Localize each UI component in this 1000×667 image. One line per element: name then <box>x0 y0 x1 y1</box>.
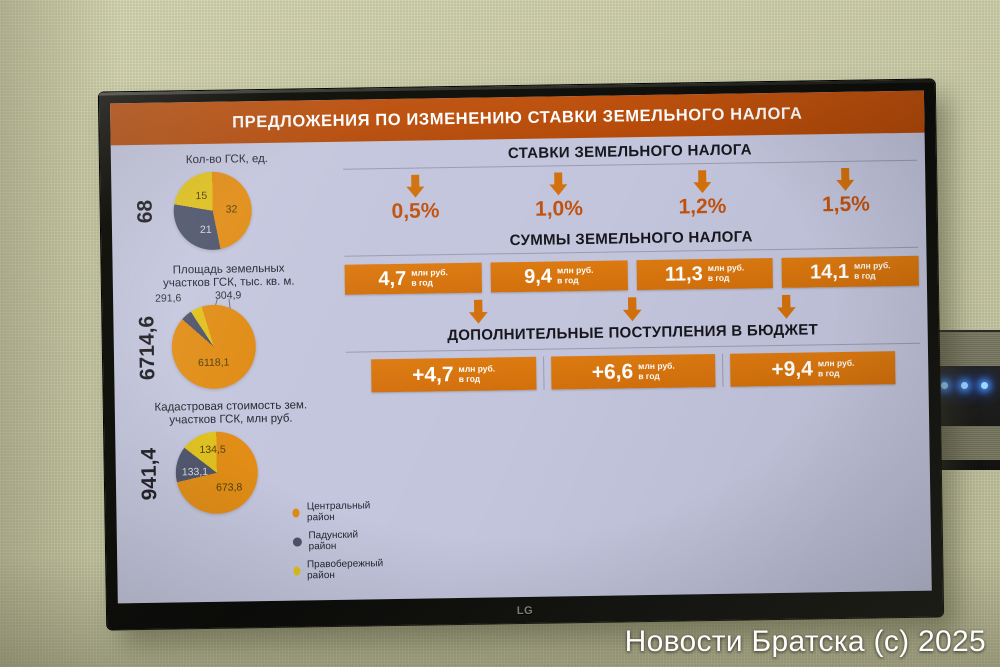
legend-dot-icon <box>292 508 300 517</box>
watermark: Новости Братска (с) 2025 <box>625 625 986 659</box>
chart-2-total: 6714,6 <box>135 315 160 380</box>
budget-box-2: +6,6 млн руб. в год <box>551 354 716 390</box>
arrow-down-icon <box>834 168 856 192</box>
budget-arrow-cell-1 <box>401 298 555 325</box>
chart-3-label-padun: 133,1 <box>182 466 208 478</box>
rate-cell-1: 0,5% <box>343 174 487 225</box>
budget-value: +4,7 <box>412 364 454 386</box>
lg-brand-logo: LG <box>517 605 533 617</box>
chart-gsk-area: Площадь земельных участков ГСК, тыс. кв.… <box>119 261 341 390</box>
budget-row: +4,7 млн руб. в год +6,6 млн руб. в год <box>346 351 920 393</box>
chart-1-label-pravo: 15 <box>195 189 207 201</box>
sums-row: 4,7 млн руб. в год 9,4 млн руб. в год 11… <box>345 256 919 295</box>
chart-3-label-pravo: 134,5 <box>199 443 225 455</box>
arrow-down-icon <box>620 297 644 322</box>
sum-value: 4,7 <box>378 269 406 289</box>
budget-unit: млн руб. в год <box>638 362 675 382</box>
legend-dot-icon <box>293 566 300 575</box>
budget-arrow-cell-3 <box>709 294 863 321</box>
rate-value: 1,2% <box>678 195 726 220</box>
budget-box-3: +9,4 млн руб. в год <box>730 351 895 387</box>
budget-unit-line2: в год <box>459 373 481 383</box>
chart-gsk-cadastral-value: Кадастровая стоимость зем. участков ГСК,… <box>121 399 343 516</box>
arrow-down-icon <box>466 299 490 324</box>
budget-cell-1: +4,7 млн руб. в год <box>364 357 543 393</box>
rate-value: 0,5% <box>391 199 439 224</box>
arrow-down-icon <box>547 172 569 196</box>
sum-unit: млн руб. в год <box>854 262 891 282</box>
chart-2-label-padun: 291,6 <box>155 292 181 304</box>
budget-value: +9,4 <box>771 358 813 380</box>
budget-unit: млн руб. в год <box>458 364 495 384</box>
chart-3-total: 941,4 <box>137 447 162 500</box>
chart-1-caption: Кол-во ГСК, ед. <box>117 152 337 169</box>
rate-cell-3: 1,2% <box>630 169 774 220</box>
sum-box-1: 4,7 млн руб. в год <box>345 263 482 295</box>
sum-unit-line2: в год <box>854 270 876 280</box>
chart-2-label-central: 6118,1 <box>198 356 230 368</box>
chart-1-pie <box>173 171 252 250</box>
arrow-down-icon <box>691 170 713 194</box>
wall-mounted-tv: LG ПРЕДЛОЖЕНИЯ ПО ИЗМЕНЕНИЮ СТАВКИ ЗЕМЕЛ… <box>99 79 943 629</box>
sum-box-4: 14,1 млн руб. в год <box>782 256 919 288</box>
rate-cell-4: 1,5% <box>774 167 918 218</box>
budget-unit: млн руб. в год <box>818 359 855 379</box>
sum-unit: млн руб. в год <box>411 269 448 289</box>
sum-unit-line2: в год <box>411 277 433 287</box>
arrow-down-icon <box>774 295 798 320</box>
chart-1-label-padun: 21 <box>200 223 212 235</box>
budget-arrow-cell-2 <box>555 296 709 323</box>
status-led <box>981 382 988 389</box>
charts-column: Кол-во ГСК, ед. 68 32 21 15 Площадь земе… <box>117 146 344 603</box>
budget-value: +6,6 <box>592 361 634 383</box>
sum-unit-line2: в год <box>557 275 579 285</box>
budget-cell-2: +6,6 млн руб. в год <box>544 354 723 390</box>
sum-unit-line2: в год <box>708 273 730 283</box>
slide-title: ПРЕДЛОЖЕНИЯ ПО ИЗМЕНЕНИЮ СТАВКИ ЗЕМЕЛЬНО… <box>232 104 803 132</box>
sum-value: 14,1 <box>810 262 849 283</box>
budget-unit-line2: в год <box>638 370 660 380</box>
chart-2-pie <box>171 304 256 389</box>
rates-row: 0,5% 1,0% 1,2% 1,5% <box>343 167 918 225</box>
legend-dot-icon <box>293 537 302 546</box>
chart-gsk-count: Кол-во ГСК, ед. 68 32 21 15 <box>117 152 338 251</box>
sum-value: 11,3 <box>665 264 703 285</box>
budget-cell-3: +9,4 млн руб. в год <box>723 351 902 387</box>
rate-value: 1,5% <box>822 193 870 218</box>
rate-cell-2: 1,0% <box>487 171 631 222</box>
arrow-down-icon <box>404 174 426 198</box>
status-led <box>961 382 968 389</box>
sum-box-3: 11,3 млн руб. в год <box>636 258 773 290</box>
sum-box-2: 9,4 млн руб. в год <box>490 260 627 292</box>
rate-value: 1,0% <box>535 197 583 222</box>
status-led <box>941 382 948 389</box>
chart-3-label-central: 673,8 <box>216 481 242 493</box>
sum-unit: млн руб. в год <box>708 264 745 284</box>
chart-1-label-central: 32 <box>226 203 238 215</box>
chart-1-total: 68 <box>134 200 158 224</box>
sum-unit: млн руб. в год <box>557 266 594 286</box>
tax-rates-panel: СТАВКИ ЗЕМЕЛЬНОГО НАЛОГА 0,5% 1,0% 1,2% <box>343 139 924 596</box>
sum-value: 9,4 <box>524 267 552 287</box>
presentation-slide: ПРЕДЛОЖЕНИЯ ПО ИЗМЕНЕНИЮ СТАВКИ ЗЕМЕЛЬНО… <box>110 91 932 604</box>
budget-box-1: +4,7 млн руб. в год <box>371 357 536 393</box>
budget-unit-line2: в год <box>818 368 840 378</box>
